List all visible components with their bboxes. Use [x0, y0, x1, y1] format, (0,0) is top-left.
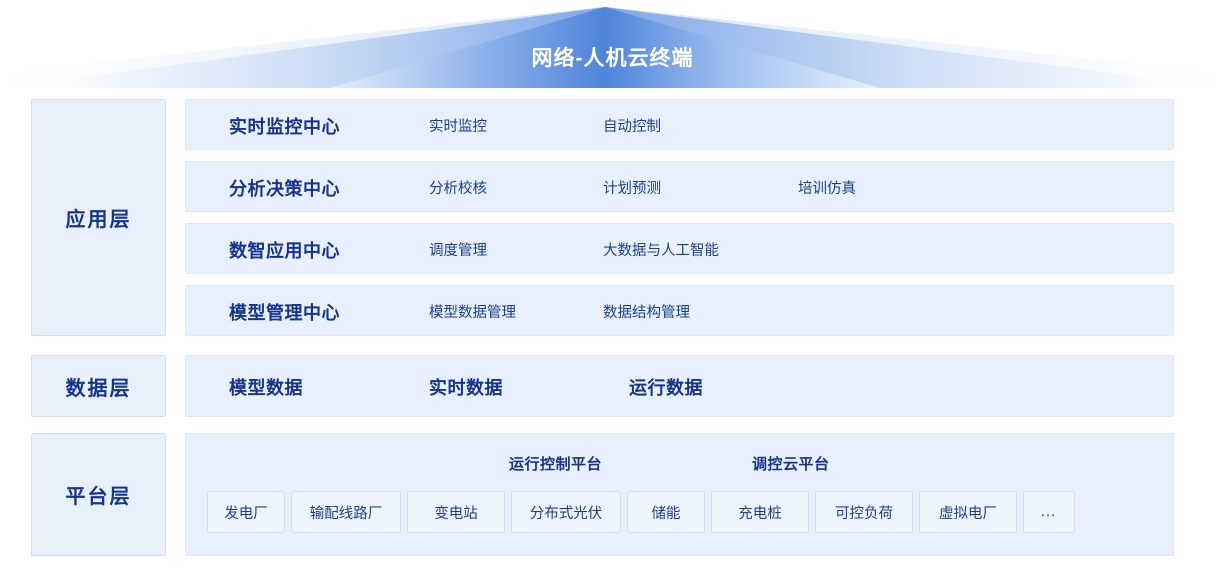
layer-label-data-text: 数据层 [66, 372, 132, 401]
layer-label-platform: 平台层 [31, 433, 166, 556]
row-title: 数智应用中心 [229, 224, 340, 275]
row-item[interactable]: 计划预测 [603, 162, 661, 213]
chip-distributed-pv[interactable]: 分布式光伏 [511, 491, 621, 533]
roof-shape [0, 0, 1225, 92]
application-row-model-management[interactable]: 模型管理中心 模型数据管理 数据结构管理 [185, 285, 1174, 336]
platform-title-operation-control[interactable]: 运行控制平台 [509, 453, 602, 474]
application-row-analysis-decision[interactable]: 分析决策中心 分析校核 计划预测 培训仿真 [185, 161, 1174, 212]
platform-title-row: 运行控制平台 调控云平台 [186, 453, 1173, 475]
row-title: 分析决策中心 [229, 162, 340, 213]
row-item[interactable]: 培训仿真 [798, 162, 856, 213]
row-title: 实时监控中心 [229, 100, 340, 151]
layer-label-data: 数据层 [31, 355, 166, 417]
row-item[interactable]: 自动控制 [603, 100, 661, 151]
chip-virtual-power-plant[interactable]: 虚拟电厂 [919, 491, 1017, 533]
application-layer-rows: 实时监控中心 实时监控 自动控制 分析决策中心 分析校核 计划预测 培训仿真 数… [185, 99, 1174, 336]
row-item[interactable]: 数据结构管理 [603, 286, 690, 337]
row-item[interactable]: 大数据与人工智能 [603, 224, 719, 275]
chip-more-ellipsis[interactable]: … [1023, 491, 1075, 533]
platform-layer-panel: 运行控制平台 调控云平台 发电厂 输配线路厂 变电站 分布式光伏 储能 充电桩 … [185, 433, 1174, 556]
layer-label-platform-text: 平台层 [66, 480, 132, 509]
chip-charging-pile[interactable]: 充电桩 [711, 491, 809, 533]
row-item[interactable]: 实时监控 [429, 100, 487, 151]
row-item[interactable]: 调度管理 [429, 224, 487, 275]
data-layer-item[interactable]: 模型数据 [229, 356, 303, 418]
layer-label-application: 应用层 [31, 99, 166, 336]
data-layer-item[interactable]: 实时数据 [429, 356, 503, 418]
row-item[interactable]: 模型数据管理 [429, 286, 516, 337]
chip-substation[interactable]: 变电站 [407, 491, 505, 533]
chip-power-plant[interactable]: 发电厂 [207, 491, 285, 533]
layer-label-application-text: 应用层 [66, 203, 132, 232]
data-layer-panel: 模型数据 实时数据 运行数据 [185, 355, 1174, 417]
chip-transmission-distribution-line[interactable]: 输配线路厂 [291, 491, 401, 533]
platform-chip-row: 发电厂 输配线路厂 变电站 分布式光伏 储能 充电桩 可控负荷 虚拟电厂 … [207, 491, 1075, 533]
row-title: 模型管理中心 [229, 286, 340, 337]
data-layer-item[interactable]: 运行数据 [629, 356, 703, 418]
application-row-realtime-monitoring[interactable]: 实时监控中心 实时监控 自动控制 [185, 99, 1174, 150]
row-item[interactable]: 分析校核 [429, 162, 487, 213]
platform-title-dispatch-cloud[interactable]: 调控云平台 [752, 453, 830, 474]
chip-controllable-load[interactable]: 可控负荷 [815, 491, 913, 533]
application-row-digital-intelligence[interactable]: 数智应用中心 调度管理 大数据与人工智能 [185, 223, 1174, 274]
chip-energy-storage[interactable]: 储能 [627, 491, 705, 533]
